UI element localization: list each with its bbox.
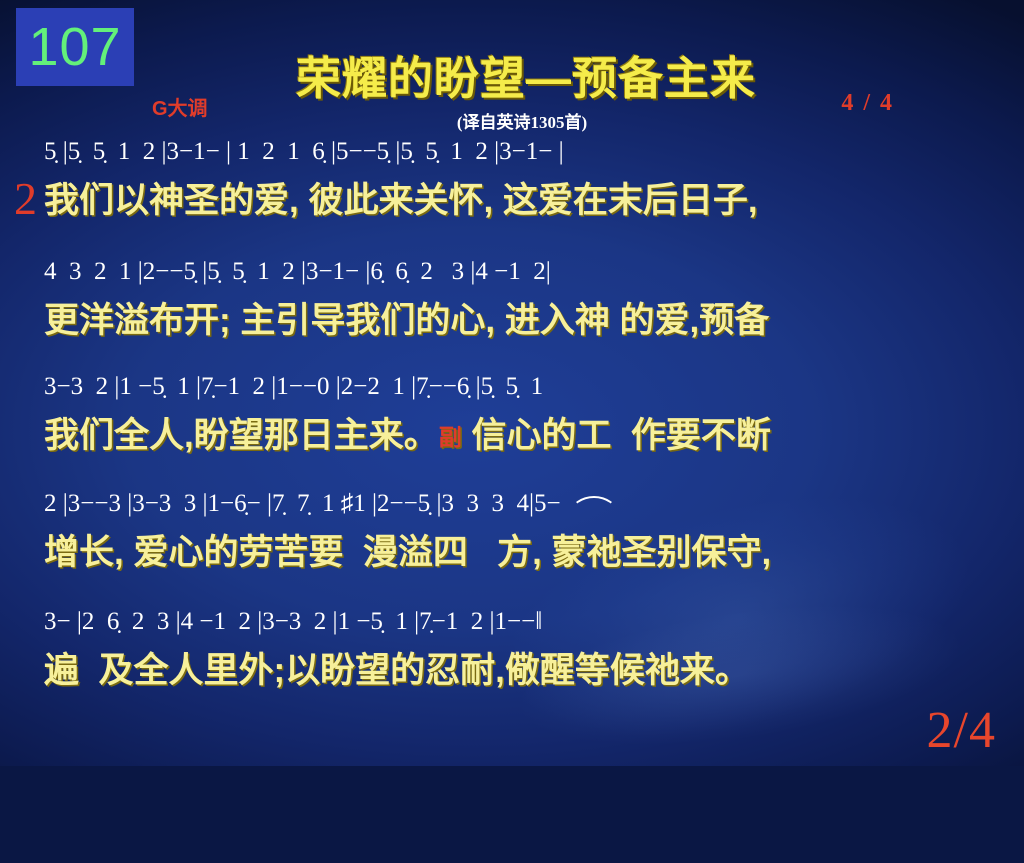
music-system-1: 5̣ |5̣ 5̣ 1 2 |3−1− | 1 2 1 6̣ |5−−5̣ |5…: [0, 138, 1024, 220]
lyrics-line-1: 我们以神圣的爱, 彼此来关怀, 这爱在末后日子,: [0, 172, 1024, 220]
lyrics-line-3-main: 我们全人,盼望那日主来。: [44, 416, 439, 455]
music-system-2: 4 3 2 1 |2−−5̣ |5̣ 5̣ 1 2 |3−1− |6̣ 6̣ 2…: [0, 258, 1024, 340]
notation-line-2: 4 3 2 1 |2−−5̣ |5̣ 5̣ 1 2 |3−1− |6̣ 6̣ 2…: [0, 258, 1024, 292]
subtitle-translation-note: (译自英诗1305首): [0, 108, 1024, 133]
refrain-marker: 副: [439, 424, 462, 450]
lyrics-line-4: 增长, 爱心的劳苦要 漫溢四 方, 蒙祂圣别保守,: [0, 524, 1024, 572]
music-system-5: 3− |2 6̣ 2 3 |4 −1 2 |3−3 2 |1 −5̣ 1 |7̣…: [0, 608, 1024, 690]
page-number: 2/4: [927, 701, 996, 760]
lyrics-line-2: 更洋溢布开; 主引导我们的心, 进入神 的爱,预备: [0, 292, 1024, 340]
notation-line-3: 3−3 2 |1 −5̣ 1 |7̣−1 2 |1−−0 |2−2 1 |7̣−…: [0, 373, 1024, 407]
lyrics-line-3-tail: 信心的工 作要不断: [462, 416, 771, 455]
notation-line-4: 2 |3−−3 |3−3 3 |1−6̣− |7̣ 7̣ 1 ♯1 |2−−5̣…: [0, 490, 1024, 524]
music-system-3: 3−3 2 |1 −5̣ 1 |7̣−1 2 |1−−0 |2−2 1 |7̣−…: [0, 373, 1024, 455]
notation-line-5: 3− |2 6̣ 2 3 |4 −1 2 |3−3 2 |1 −5̣ 1 |7̣…: [0, 608, 1024, 642]
music-system-4: 2 |3−−3 |3−3 3 |1−6̣− |7̣ 7̣ 1 ♯1 |2−−5̣…: [0, 490, 1024, 572]
lyrics-line-3: 我们全人,盼望那日主来。副 信心的工 作要不断: [0, 407, 1024, 455]
lyrics-line-5: 遍 及全人里外;以盼望的忍耐,儆醒等候祂来。: [0, 642, 1024, 690]
hymn-slide: 107 荣耀的盼望—预备主来 G大调 4 / 4 (译自英诗1305首) 2 5…: [0, 0, 1024, 766]
notation-line-1: 5̣ |5̣ 5̣ 1 2 |3−1− | 1 2 1 6̣ |5−−5̣ |5…: [0, 138, 1024, 172]
